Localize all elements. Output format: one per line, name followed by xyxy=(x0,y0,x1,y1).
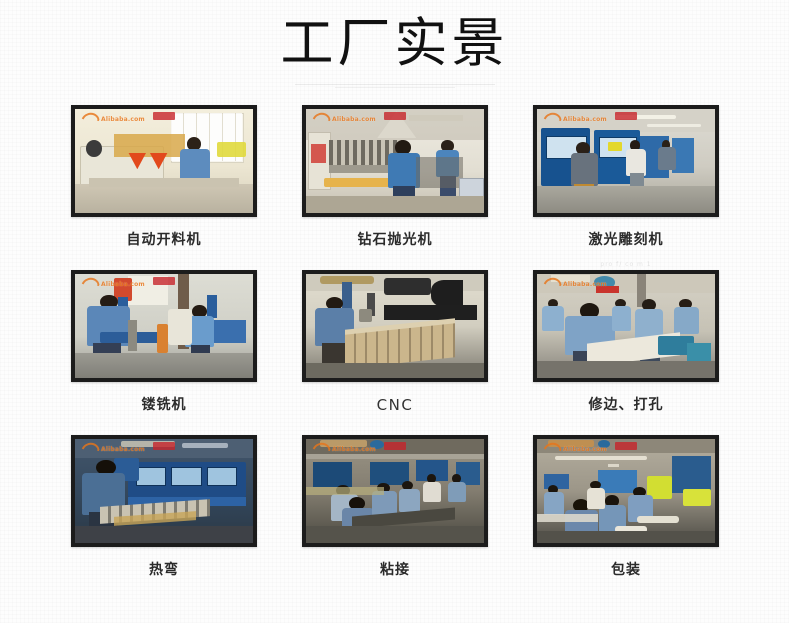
watermark-badge xyxy=(153,442,175,450)
gallery-cell-cnc-machine[interactable]: CNC xyxy=(286,270,504,435)
gallery-cell-hot-bending[interactable]: Alibaba.com 热弯 xyxy=(55,435,273,600)
page-title: 工厂实景 xyxy=(0,12,789,76)
gallery-cell-auto-cutting-machine[interactable]: Alibaba.com 自动开料机 xyxy=(55,105,273,270)
page-header: 工厂实景 xyxy=(0,12,789,88)
photo-image-diamond-polishing-machine: Alibaba.com xyxy=(306,109,484,213)
photo-image-trimming-drilling: Alibaba.com xyxy=(537,274,715,378)
photo-frame[interactable]: Alibaba.com xyxy=(533,270,719,382)
photo-caption: 钻石抛光机 xyxy=(358,231,433,249)
watermark-badge xyxy=(384,442,406,450)
photo-image-hot-bending: Alibaba.com xyxy=(75,439,253,543)
photo-caption: 自动开料机 xyxy=(127,231,202,249)
watermark-badge xyxy=(384,112,406,120)
photo-frame[interactable]: Alibaba.com xyxy=(302,105,488,217)
photo-image-auto-cutting-machine: Alibaba.com xyxy=(75,109,253,213)
factory-gallery-page: 工厂实景 xyxy=(0,0,789,623)
photo-frame[interactable]: Alibaba.com xyxy=(533,435,719,547)
gallery-cell-trimming-drilling[interactable]: pro f/ co m 1 xyxy=(517,270,735,435)
photo-grid: Alibaba.com 自动开料机 xyxy=(55,105,735,600)
gallery-cell-diamond-polishing-machine[interactable]: Alibaba.com 钻石抛光机 xyxy=(286,105,504,270)
photo-caption: 包装 xyxy=(611,561,641,579)
photo-image-laser-engraving-machine: Alibaba.com xyxy=(537,109,715,213)
watermark-badge xyxy=(615,442,637,450)
photo-caption: 镂铣机 xyxy=(142,396,187,414)
photo-caption: CNC xyxy=(377,396,414,414)
gallery-cell-packaging[interactable]: Alibaba.com 包装 xyxy=(517,435,735,600)
photo-frame[interactable]: Alibaba.com xyxy=(533,105,719,217)
photo-caption: 热弯 xyxy=(149,561,179,579)
watermark-badge xyxy=(153,277,175,285)
watermark-badge xyxy=(615,112,637,120)
photo-caption: 修边、打孔 xyxy=(589,396,664,414)
photo-frame[interactable] xyxy=(302,270,488,382)
photo-frame[interactable]: Alibaba.com xyxy=(71,270,257,382)
photo-frame[interactable]: Alibaba.com xyxy=(302,435,488,547)
faint-overlay-artifact: pro f/ co m 1 xyxy=(600,261,651,268)
gallery-cell-bonding[interactable]: Alibaba.com 粘接 xyxy=(286,435,504,600)
photo-frame[interactable]: Alibaba.com xyxy=(71,105,257,217)
photo-image-bonding: Alibaba.com xyxy=(306,439,484,543)
photo-image-packaging: Alibaba.com xyxy=(537,439,715,543)
photo-image-router-milling-machine: Alibaba.com xyxy=(75,274,253,378)
title-divider-secondary xyxy=(335,87,455,88)
gallery-cell-router-milling-machine[interactable]: Alibaba.com 镂铣机 xyxy=(55,270,273,435)
watermark-badge xyxy=(153,112,175,120)
photo-caption: 激光雕刻机 xyxy=(589,231,664,249)
photo-frame[interactable]: Alibaba.com xyxy=(71,435,257,547)
photo-image-cnc-machine xyxy=(306,274,484,378)
gallery-cell-laser-engraving-machine[interactable]: Alibaba.com 激光雕刻机 xyxy=(517,105,735,270)
photo-caption: 粘接 xyxy=(380,561,410,579)
title-divider xyxy=(295,84,495,85)
